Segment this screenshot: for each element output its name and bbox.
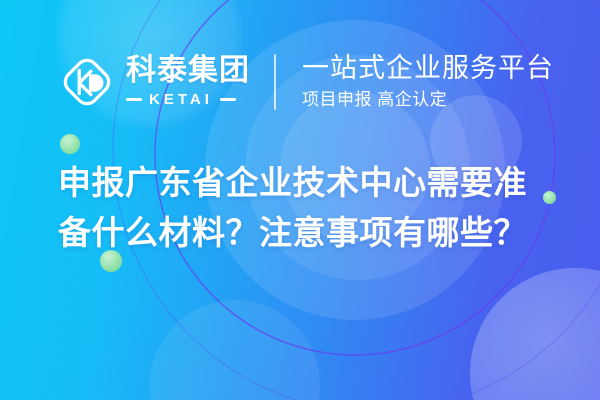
tagline-primary: 一站式企业服务平台 [302, 53, 554, 83]
promo-banner: 科泰集团 KETAI 一站式企业服务平台 项目申报 高企认定 申报广东省企业技术… [0, 0, 600, 400]
ketai-kd-monogram-icon [56, 51, 118, 113]
decor-circle-bottom-right [470, 268, 600, 400]
tagline-secondary: 项目申报 高企认定 [302, 89, 554, 111]
brand-name-en: KETAI [149, 91, 213, 108]
decor-dot-green-1 [60, 134, 80, 154]
logo-wordmark: 科泰集团 KETAI [126, 56, 250, 108]
header-divider [274, 54, 276, 110]
tagline-block: 一站式企业服务平台 项目申报 高企认定 [302, 53, 554, 110]
brand-rule-left-icon [126, 98, 142, 101]
decor-circle-lower-left [150, 300, 320, 400]
brand-name-cn: 科泰集团 [126, 56, 250, 86]
banner-header: 科泰集团 KETAI 一站式企业服务平台 项目申报 高企认定 [56, 44, 554, 120]
brand-rule-right-icon [220, 98, 236, 101]
page-title: 申报广东省企业技术中心需要准备什么材料？注意事项有哪些？ [58, 158, 558, 258]
brand-name-en-wrap: KETAI [126, 91, 250, 108]
